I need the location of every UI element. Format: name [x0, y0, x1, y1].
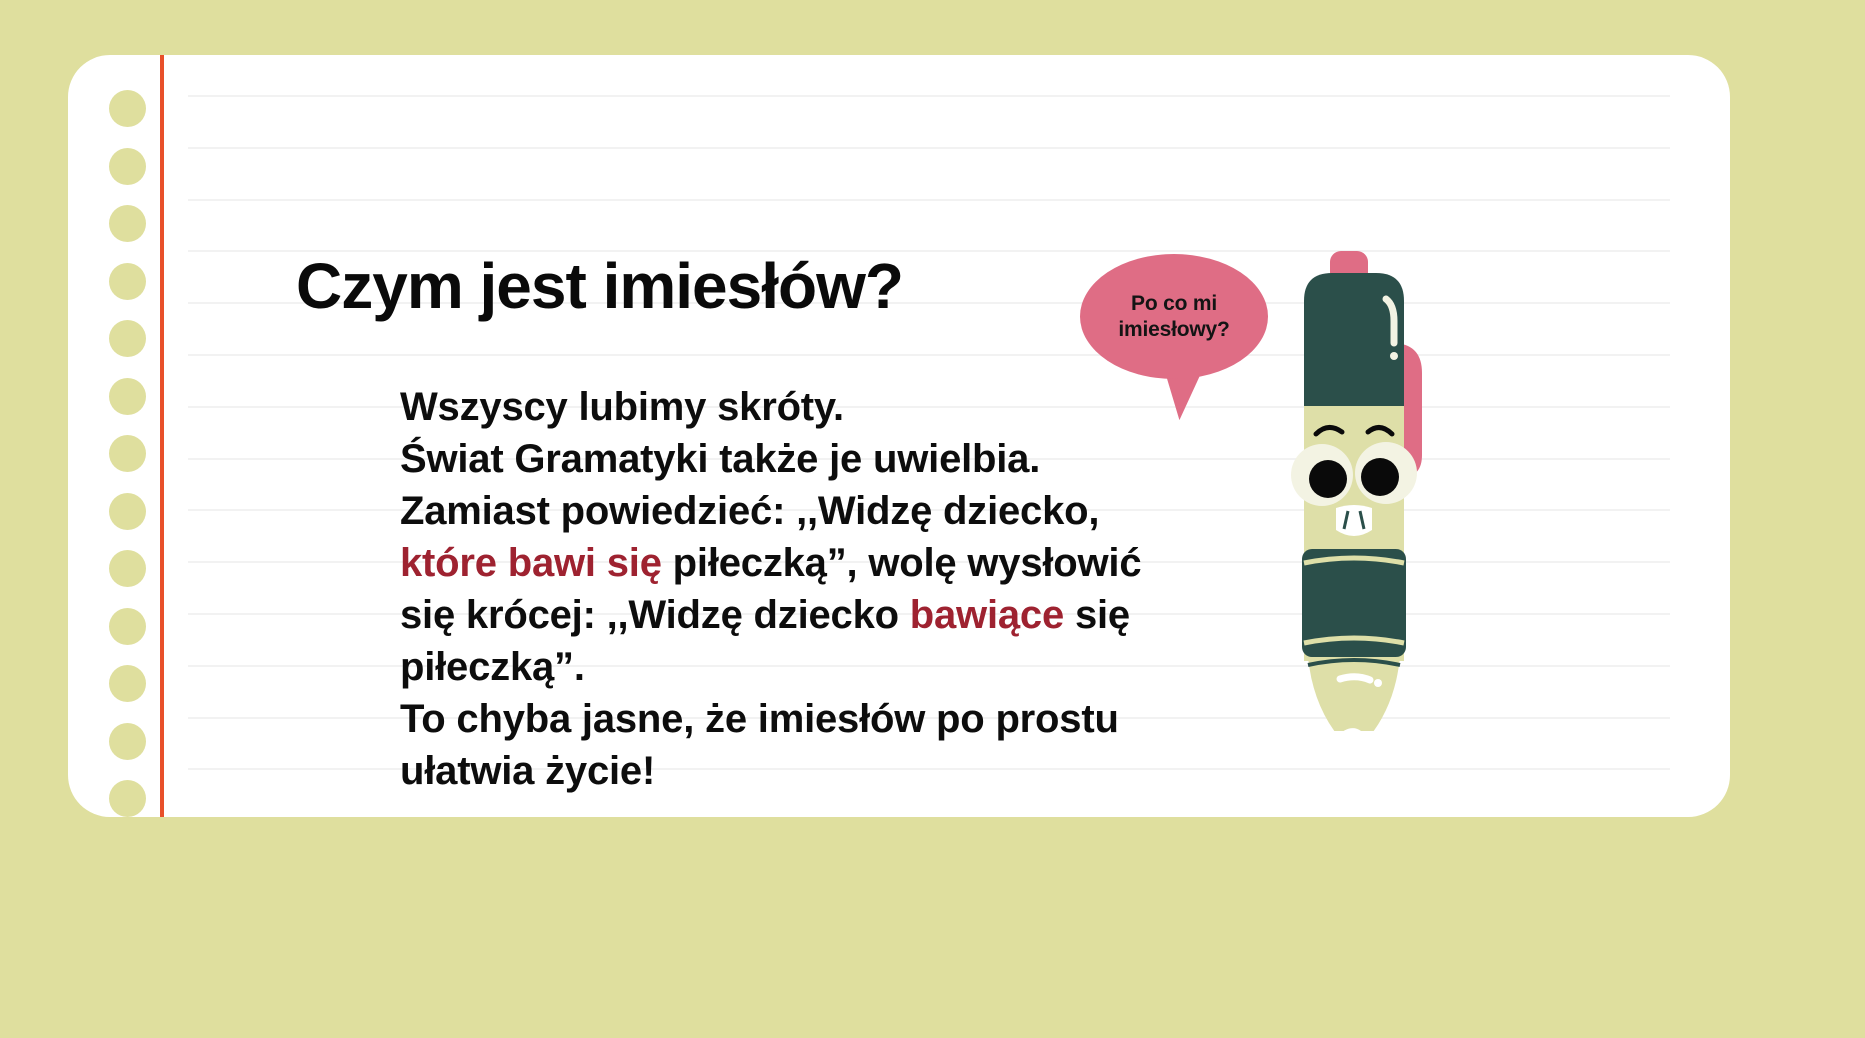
mouth-teeth — [1336, 505, 1372, 536]
notebook-punch-hole — [109, 90, 146, 127]
notebook-punch-hole — [109, 378, 146, 415]
body-line-2: Świat Gramatyki także je uwielbia. — [400, 433, 1200, 485]
notebook-margin-line — [160, 55, 164, 817]
page-title: Czym jest imiesłów? — [296, 254, 903, 318]
notebook-rule-line — [188, 95, 1670, 97]
notebook-punch-hole — [109, 550, 146, 587]
notebook-rule-line — [188, 199, 1670, 201]
body-line-3-part-a: Zamiast powiedzieć: ,,Widzę dziecko, — [400, 489, 1099, 533]
notebook-rule-line — [188, 147, 1670, 149]
notebook-punch-hole — [109, 148, 146, 185]
speech-bubble-line-2: imiesłowy? — [1118, 317, 1229, 343]
notebook-punch-hole — [109, 205, 146, 242]
pen-cone-highlight-dot — [1374, 679, 1382, 687]
body-line-2-text: Świat Gramatyki także je uwielbia. — [400, 437, 1040, 481]
body-line-1: Wszyscy lubimy skróty. — [400, 381, 1200, 433]
speech-bubble: Po co mi imiesłowy? — [1080, 254, 1268, 379]
notebook-punch-hole — [109, 780, 146, 817]
speech-bubble-line-1: Po co mi — [1118, 291, 1229, 317]
body-line-4: To chyba jasne, że imiesłów po prostu uł… — [400, 693, 1200, 797]
pen-cap-highlight-dot — [1390, 352, 1398, 360]
body-line-4-text: To chyba jasne, że imiesłów po prostu uł… — [400, 697, 1119, 793]
notebook-punch-hole — [109, 263, 146, 300]
notebook-punch-hole — [109, 320, 146, 357]
pen-cone-highlight — [1340, 677, 1370, 680]
notebook-rule-line — [188, 354, 1670, 356]
notebook-hole-column — [68, 55, 188, 817]
pen-cap — [1304, 273, 1404, 406]
pupil-right — [1361, 458, 1399, 496]
highlight-ktore-bawi-sie: które bawi się — [400, 541, 662, 585]
speech-bubble-text: Po co mi imiesłowy? — [1118, 291, 1229, 343]
body-line-3: Zamiast powiedzieć: ,,Widzę dziecko, któ… — [400, 485, 1200, 693]
notebook-punch-hole — [109, 493, 146, 530]
notebook-page: Czym jest imiesłów? Wszyscy lubimy skrót… — [68, 55, 1730, 817]
pen-mascot — [1264, 251, 1444, 731]
body-copy: Wszyscy lubimy skróty. Świat Gramatyki t… — [400, 381, 1200, 797]
notebook-punch-hole — [109, 723, 146, 760]
slide-canvas: Czym jest imiesłów? Wszyscy lubimy skrót… — [0, 0, 1865, 1038]
pen-cone — [1308, 657, 1400, 731]
notebook-punch-hole — [109, 665, 146, 702]
notebook-punch-hole — [109, 435, 146, 472]
body-line-1-text: Wszyscy lubimy skróty. — [400, 385, 844, 429]
pupil-left — [1309, 460, 1347, 498]
highlight-bawiace: bawiące — [910, 593, 1064, 637]
notebook-punch-hole — [109, 608, 146, 645]
